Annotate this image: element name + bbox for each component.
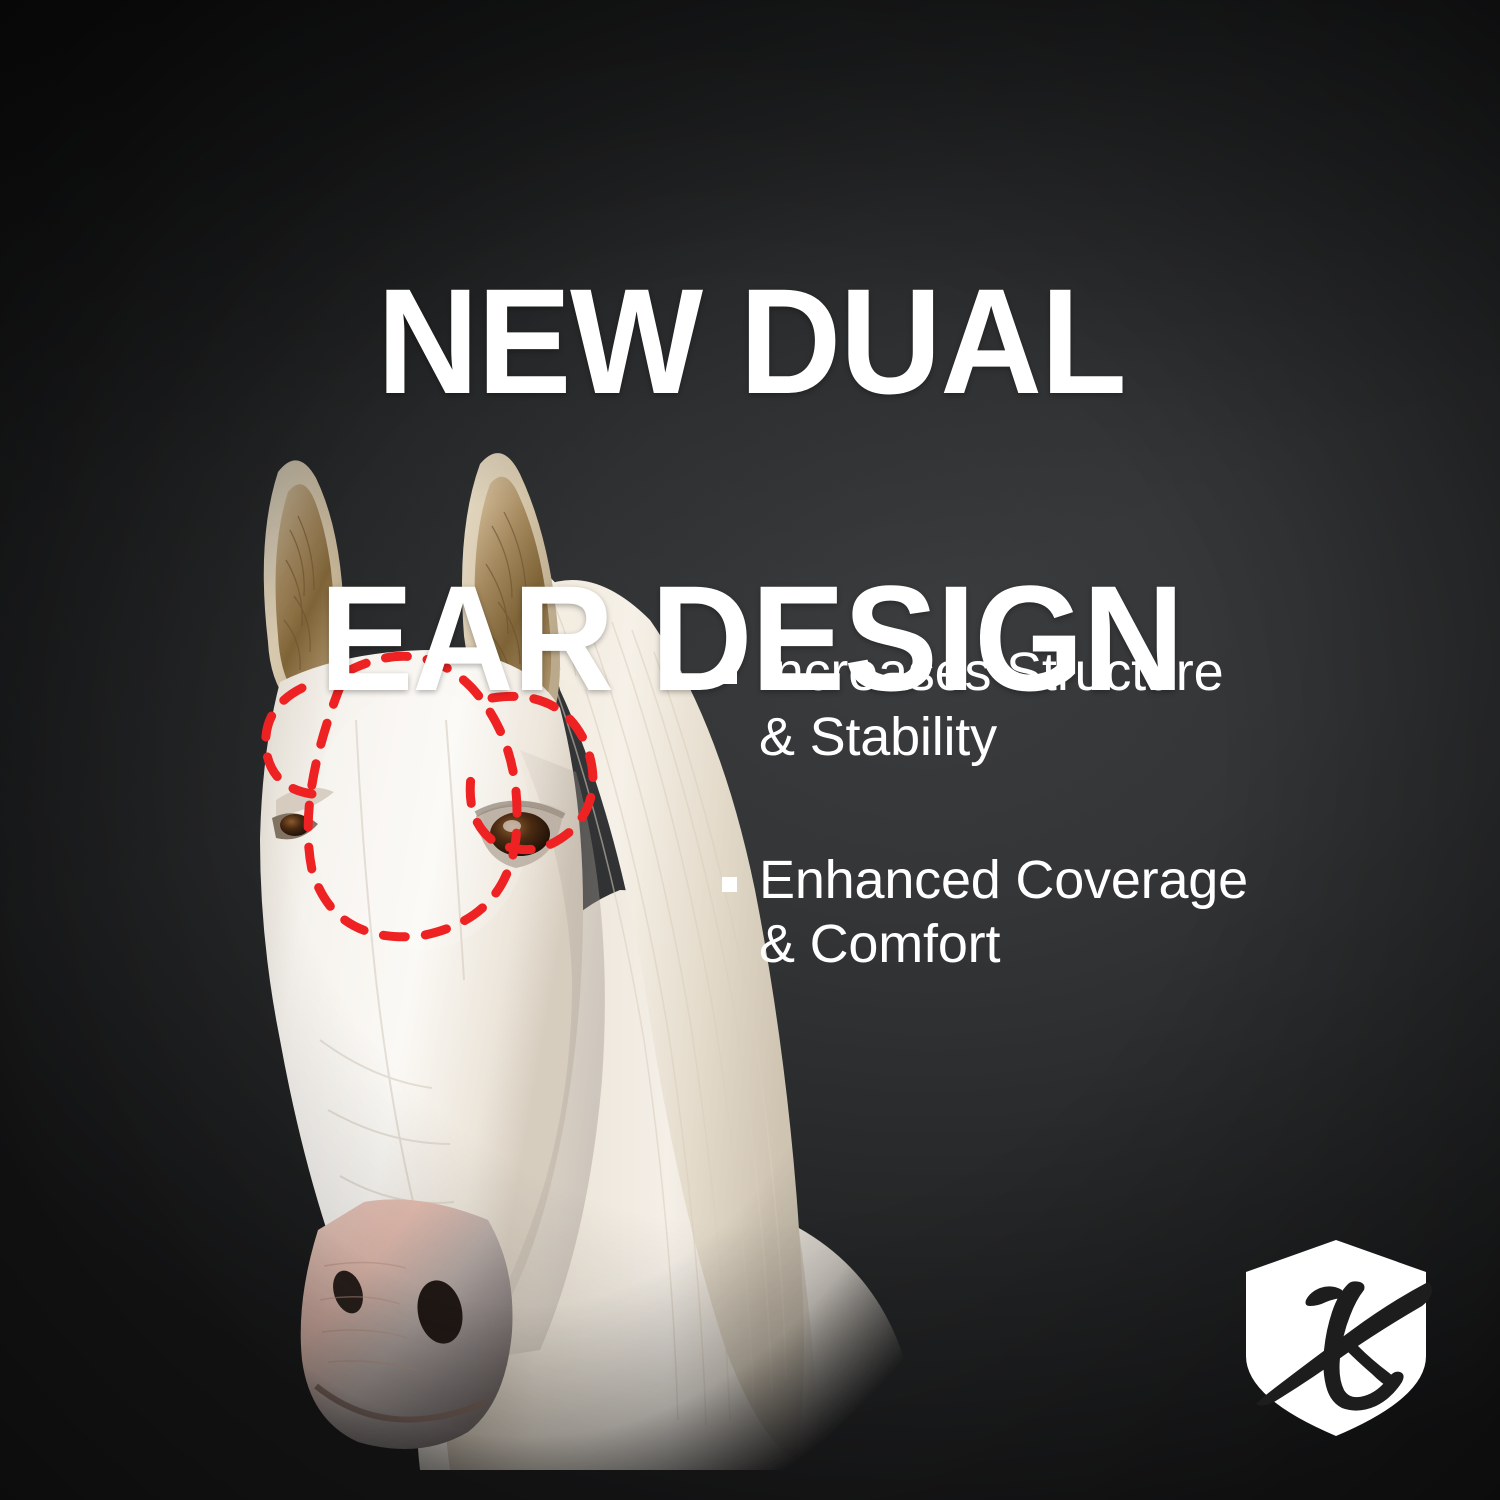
feature-item-text: Increases Structure& Stability bbox=[759, 640, 1223, 770]
headline-line-1: NEW DUAL bbox=[300, 267, 1202, 416]
feature-item-line-2: & Stability bbox=[759, 707, 997, 767]
ad-creative-canvas: NEW DUAL EAR DESIGN Increases Structure&… bbox=[0, 0, 1500, 1500]
square-bullet-icon bbox=[722, 877, 737, 892]
feature-item: Increases Structure& Stability bbox=[722, 640, 1422, 770]
feature-item-line-2: & Comfort bbox=[759, 914, 1000, 974]
feature-item-line-1: Increases Structure bbox=[759, 642, 1223, 702]
feature-item-line-1: Enhanced Coverage bbox=[759, 850, 1248, 910]
feature-item-text: Enhanced Coverage& Comfort bbox=[759, 848, 1248, 978]
square-bullet-icon bbox=[722, 669, 737, 684]
feature-item: Enhanced Coverage& Comfort bbox=[722, 848, 1422, 978]
brand-logo bbox=[1240, 1238, 1432, 1438]
feature-list: Increases Structure& Stability Enhanced … bbox=[722, 640, 1422, 977]
